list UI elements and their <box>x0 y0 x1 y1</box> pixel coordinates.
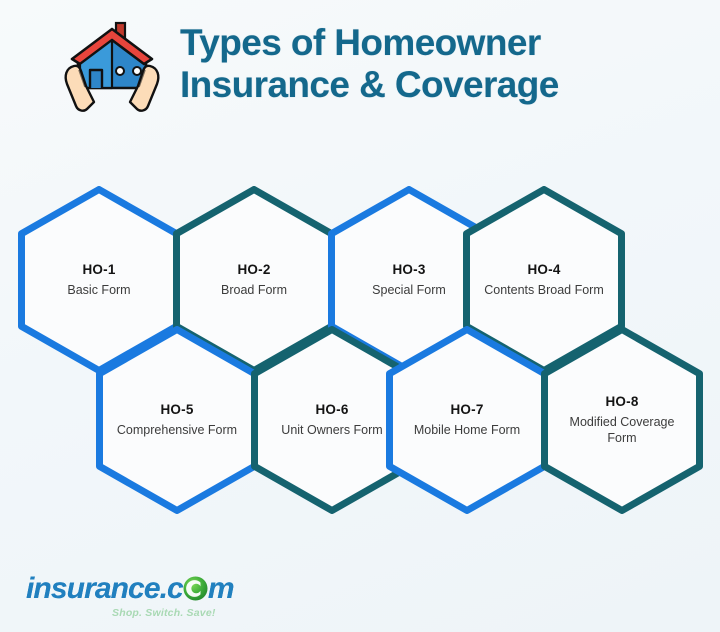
house-in-hands-icon <box>52 12 172 117</box>
honeycomb-diagram: HO-1Basic FormHO-2Broad FormHO-3Special … <box>0 178 720 518</box>
logo-word-2: m <box>208 572 234 606</box>
infographic-canvas: Types of Homeowner Insurance & Coverage … <box>0 0 720 632</box>
hexagon-outline <box>100 330 255 511</box>
page-title-line-1: Types of Homeowner <box>180 22 559 64</box>
logo-tagline: Shop. Switch. Save! <box>112 607 234 619</box>
header: Types of Homeowner Insurance & Coverage <box>0 0 720 128</box>
green-globe-o-icon <box>183 576 208 601</box>
hexagon-outline <box>545 330 700 511</box>
hexagon-ho-8[interactable]: HO-8Modified Coverage Form <box>541 326 703 514</box>
hexagon-ho-7[interactable]: HO-7Mobile Home Form <box>386 326 548 514</box>
logo-wordmark: insurance.c m <box>26 572 234 606</box>
hexagon-outline <box>390 330 545 511</box>
page-title-line-2: Insurance & Coverage <box>180 64 559 106</box>
page-title: Types of Homeowner Insurance & Coverage <box>180 22 559 106</box>
hexagon-ho-5[interactable]: HO-5Comprehensive Form <box>96 326 258 514</box>
logo-word-1: insurance.c <box>26 572 183 606</box>
insurance-com-logo[interactable]: insurance.c m Shop. Switch. Save! <box>26 572 234 619</box>
